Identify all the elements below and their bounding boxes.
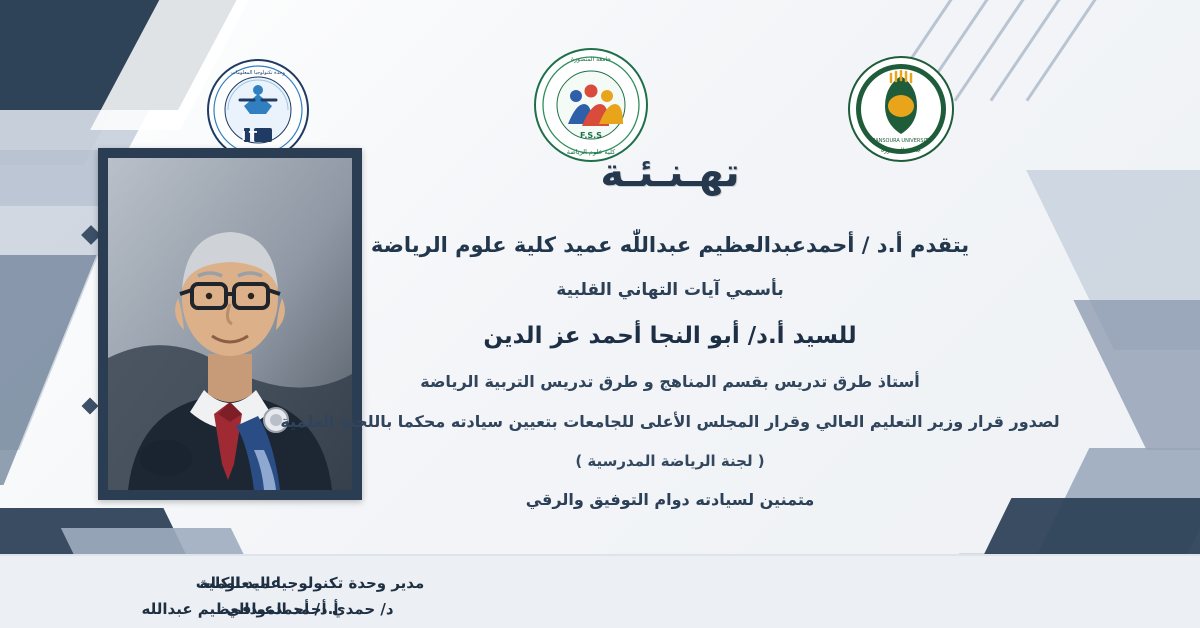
message-line-4: أستاذ طرق تدريس بقسم المناهج و طرق تدريس… [140, 370, 1200, 394]
congratulation-poster: I T وحدة تكنولوجيا المعلومات كلية علوم ا… [0, 0, 1200, 628]
footer-it-manager-block: مدير وحدة تكنولوجيا المعلومات د/ حمدي أح… [140, 574, 480, 618]
message-line-2: بأسمي آيات التهاني القلبية [140, 278, 1200, 304]
faculty-of-sport-sciences-logo: F.S.S جامعة المنصورة كلية علوم الرياضة [532, 46, 650, 164]
footer-it-manager-role: مدير وحدة تكنولوجيا المعلومات [140, 574, 480, 592]
footer: عميد الكلية أ.د/ أحمدعبدالعظيم عبدالله م… [0, 556, 1200, 628]
svg-text:MANSOURA UNIVERSITY: MANSOURA UNIVERSITY [871, 138, 932, 144]
svg-text:F.S.S: F.S.S [580, 131, 602, 140]
mansoura-university-logo: MANSOURA UNIVERSITY جامعة المنصورة [846, 54, 956, 164]
diamond-accent-icon [82, 398, 99, 415]
message-line-3: للسيد أ.د/ أبو النجا أحمد عز الدين [140, 319, 1200, 354]
message-line-5: لصدور قرار وزير التعليم العالي وقرار الم… [140, 410, 1200, 434]
left-mid-shape-slate [0, 255, 96, 485]
svg-text:T: T [249, 129, 258, 143]
it-unit-logo: I T وحدة تكنولوجيا المعلومات كلية علوم ا… [206, 58, 310, 162]
logo-row: I T وحدة تكنولوجيا المعلومات كلية علوم ا… [0, 26, 1200, 146]
message-line-7: متمنين لسيادته دوام التوفيق والرقي [140, 488, 1200, 512]
message-body: تهـنـئـة يتقدم أ.د / أحمدعبدالعظيم عبدال… [140, 150, 1200, 528]
message-line-1: يتقدم أ.د / أحمدعبدالعظيم عبداللّٰه عميد… [140, 230, 1200, 262]
footer-it-manager-name: د/ حمدي أحمد الموافي [140, 600, 480, 618]
page-title: تهـنـئـة [140, 150, 1200, 196]
svg-text:وحدة تكنولوجيا المعلومات: وحدة تكنولوجيا المعلومات [231, 70, 285, 76]
message-line-6: ( لجنة الرياضة المدرسية ) [140, 450, 1200, 473]
svg-text:جامعة المنصورة: جامعة المنصورة [571, 56, 611, 63]
svg-text:I: I [242, 129, 246, 143]
